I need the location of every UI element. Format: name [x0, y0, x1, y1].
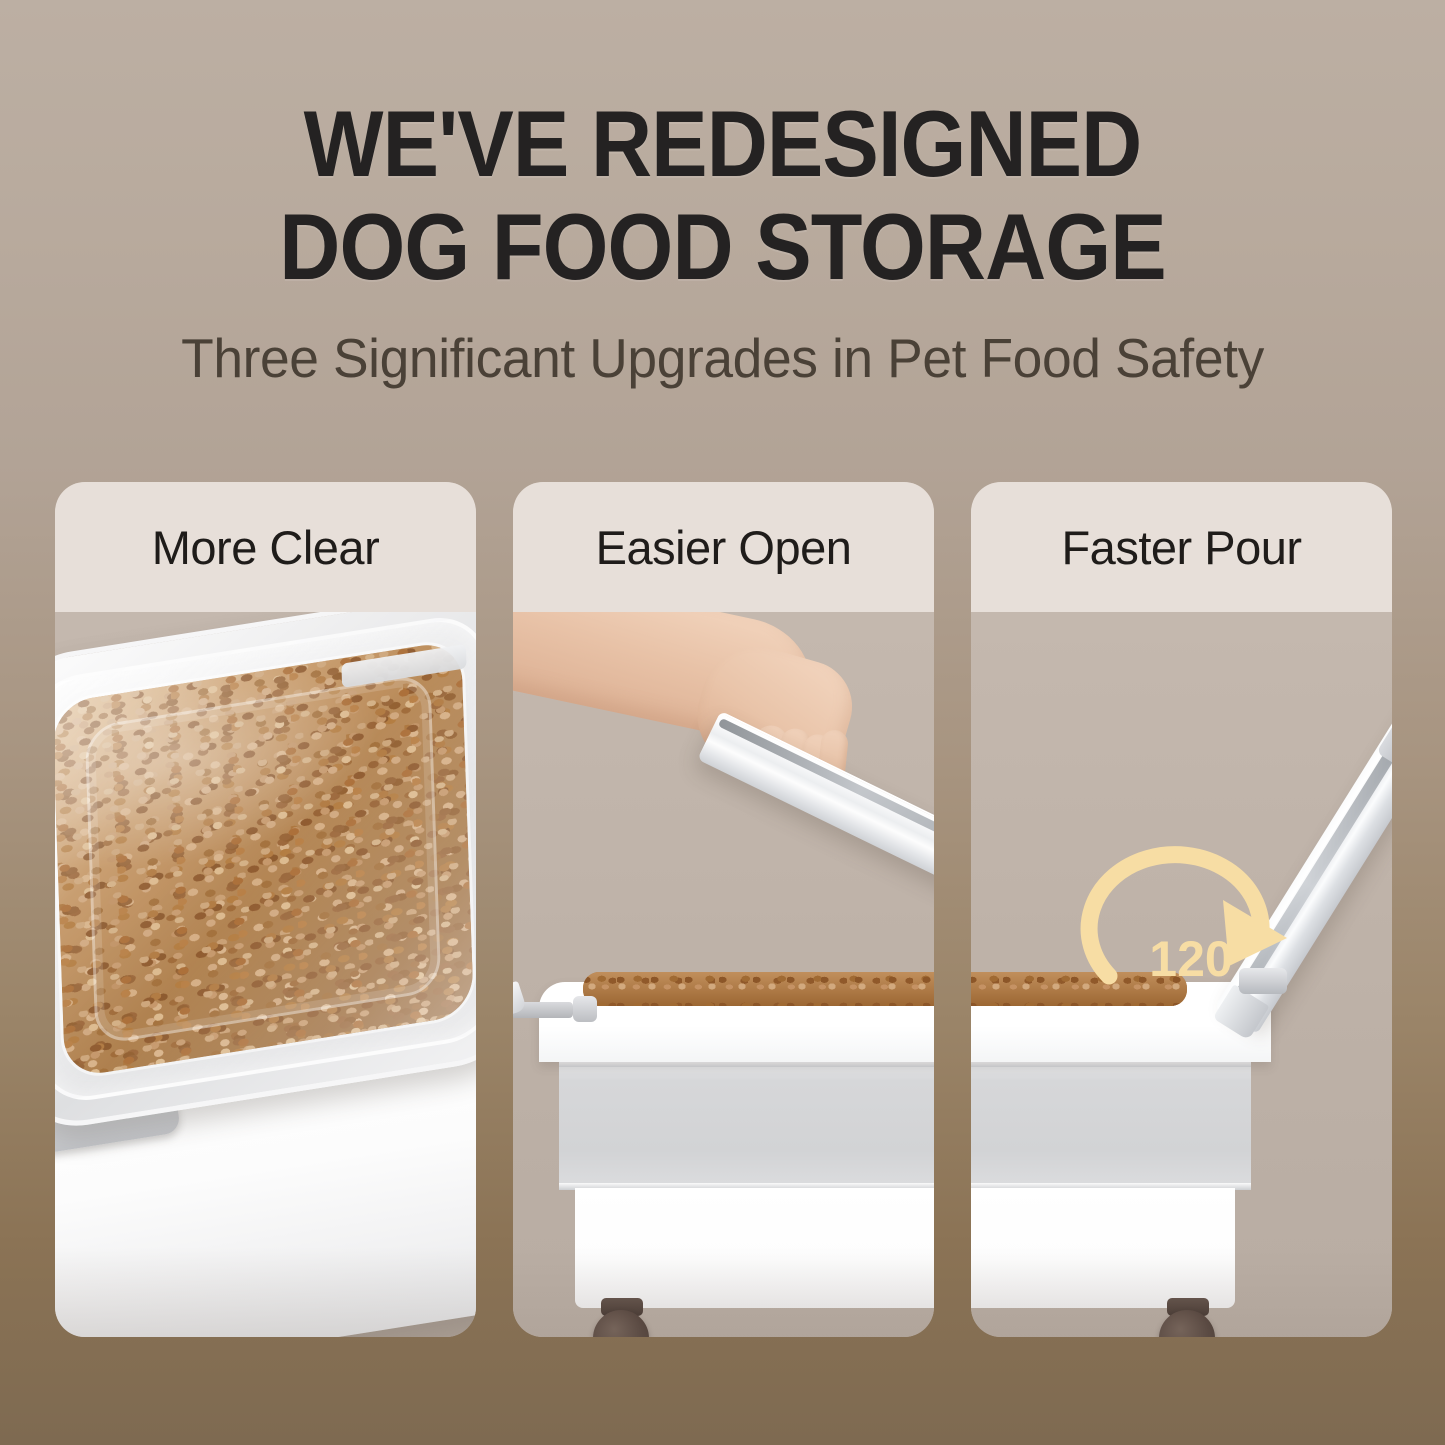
- panel-image-easier-open: [513, 612, 934, 1337]
- bin-bottom-base: [575, 1188, 934, 1308]
- bin-collapsible-midsection: [559, 1060, 934, 1190]
- panel-image-more-clear: [55, 612, 476, 1337]
- bin-bottom-base: [971, 1188, 1235, 1308]
- kibble-in-bin: [583, 972, 934, 1006]
- feature-panel-group: More Clear: [55, 482, 1392, 1337]
- headline-line-1: WE'VE REDESIGNED: [72, 92, 1373, 195]
- panel-label-faster-pour: Faster Pour: [1061, 520, 1301, 575]
- angle-value: 120°: [1091, 930, 1311, 988]
- status-badge: 120°: [1091, 854, 1311, 1014]
- hand-lifting-lid-icon: [513, 612, 934, 1337]
- panel-header-faster-pour: Faster Pour: [971, 482, 1392, 612]
- feature-panel-easier-open[interactable]: Easier Open: [513, 482, 934, 1337]
- container-clear-lid: [55, 612, 476, 1136]
- panel-image-faster-pour: 120°: [971, 612, 1392, 1337]
- latch-knob: [573, 996, 597, 1022]
- panel-label-more-clear: More Clear: [152, 520, 379, 575]
- bin-collapsible-midsection: [971, 1060, 1251, 1190]
- feature-panel-more-clear[interactable]: More Clear: [55, 482, 476, 1337]
- lid-open-hinge-icon: 120°: [971, 612, 1392, 1337]
- page-title: WE'VE REDESIGNED DOG FOOD STORAGE: [72, 92, 1373, 298]
- kibble-texture: [583, 972, 934, 1006]
- lid-transparent-window: [55, 636, 476, 1082]
- storage-bin: [539, 968, 934, 1337]
- panel-label-easier-open: Easier Open: [596, 520, 852, 575]
- lid-inner-ring: [85, 673, 442, 1046]
- headline-line-2: DOG FOOD STORAGE: [72, 195, 1373, 298]
- product-feature-graphic: WE'VE REDESIGNED DOG FOOD STORAGE Three …: [0, 0, 1445, 1445]
- side-latch-icon[interactable]: [513, 984, 597, 1040]
- page-subtitle: Three Significant Upgrades in Pet Food S…: [22, 325, 1424, 391]
- transparent-lid-icon: [55, 612, 476, 1337]
- panel-header-easier-open: Easier Open: [513, 482, 934, 612]
- feature-panel-faster-pour[interactable]: Faster Pour: [971, 482, 1392, 1337]
- panel-header-more-clear: More Clear: [55, 482, 476, 612]
